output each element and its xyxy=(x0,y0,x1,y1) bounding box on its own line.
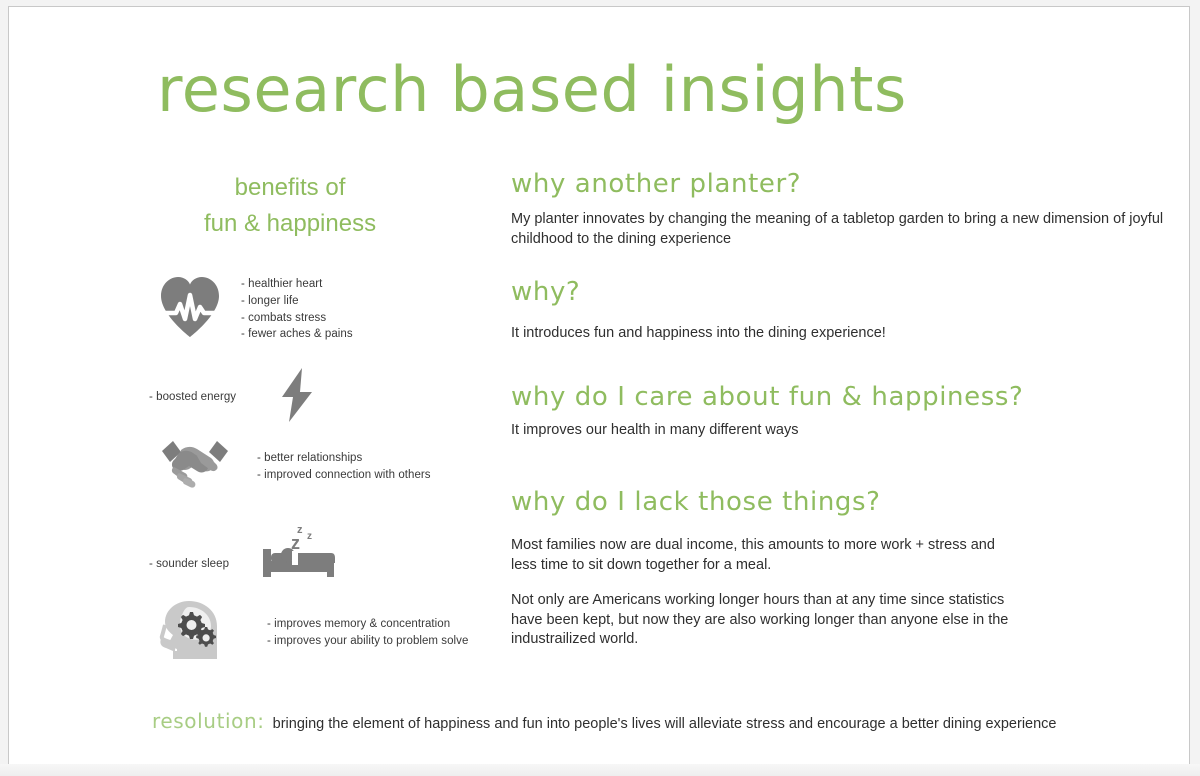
section-paragraph: Not only are Americans working longer ho… xyxy=(511,591,1021,650)
benefit-row: - better relationships - improved connec… xyxy=(159,437,431,496)
section-body: Most families now are dual income, this … xyxy=(511,536,1021,650)
head-gears-icon xyxy=(159,599,225,666)
section-paragraph: My planter innovates by changing the mea… xyxy=(511,210,1189,249)
bullet-item: - improves your ability to problem solve xyxy=(267,633,468,650)
benefit-row: - boosted energy xyxy=(149,367,318,428)
bullet-item: - better relationships xyxy=(257,450,431,467)
heart-pulse-icon xyxy=(159,275,221,344)
benefit-bullets: - healthier heart - longer life - combat… xyxy=(241,276,353,343)
benefit-bullets: - boosted energy xyxy=(149,389,236,406)
section-heading: why do I lack those things? xyxy=(511,487,1021,518)
bullet-item: - combats stress xyxy=(241,310,353,327)
page-title: research based insights xyxy=(157,59,907,121)
sleeping-bed-icon: z z z xyxy=(257,517,337,586)
lightning-bolt-icon xyxy=(276,367,318,428)
resolution-line: resolution: bringing the element of happ… xyxy=(152,709,1057,733)
section-body: My planter innovates by changing the mea… xyxy=(511,210,1189,249)
section-why: why? It introduces fun and happiness int… xyxy=(511,277,886,344)
section-body: It improves our health in many different… xyxy=(511,421,1023,441)
benefit-bullets: - better relationships - improved connec… xyxy=(257,450,431,483)
section-heading: why do I care about fun & happiness? xyxy=(511,382,1023,413)
bullet-item: - sounder sleep xyxy=(149,556,229,573)
section-why-do-i-care: why do I care about fun & happiness? It … xyxy=(511,382,1023,441)
section-body: It introduces fun and happiness into the… xyxy=(511,324,886,344)
resolution-label: resolution: xyxy=(152,709,265,733)
resolution-text: bringing the element of happiness and fu… xyxy=(273,716,1057,732)
benefit-row: - healthier heart - longer life - combat… xyxy=(159,275,353,344)
bullet-item: - improves memory & concentration xyxy=(267,616,468,633)
benefit-row: - sounder sleep z z z xyxy=(149,517,337,586)
benefits-heading-line1: benefits of xyxy=(165,170,415,206)
bullet-item: - improved connection with others xyxy=(257,467,431,484)
poster-page: research based insights benefits of fun … xyxy=(8,6,1190,764)
benefit-bullets: - sounder sleep xyxy=(149,556,229,573)
benefits-heading-line2: fun & happiness xyxy=(165,206,415,242)
bullet-item: - boosted energy xyxy=(149,389,236,406)
svg-text:z: z xyxy=(307,531,312,542)
benefits-heading: benefits of fun & happiness xyxy=(165,170,415,243)
benefit-bullets: - improves memory & concentration - impr… xyxy=(267,616,468,649)
section-paragraph: Most families now are dual income, this … xyxy=(511,536,1021,575)
bullet-item: - healthier heart xyxy=(241,276,353,293)
section-why-another-planter: why another planter? My planter innovate… xyxy=(511,169,1189,249)
bullet-item: - longer life xyxy=(241,293,353,310)
page-bottom-shadow xyxy=(0,764,1200,776)
section-paragraph: It improves our health in many different… xyxy=(511,421,1023,441)
section-heading: why? xyxy=(511,277,886,308)
benefit-row: - improves memory & concentration - impr… xyxy=(159,599,468,666)
bullet-item: - fewer aches & pains xyxy=(241,326,353,343)
section-why-do-i-lack: why do I lack those things? Most familie… xyxy=(511,487,1021,650)
section-paragraph: It introduces fun and happiness into the… xyxy=(511,324,886,344)
section-heading: why another planter? xyxy=(511,169,1189,200)
handshake-icon xyxy=(159,437,231,496)
